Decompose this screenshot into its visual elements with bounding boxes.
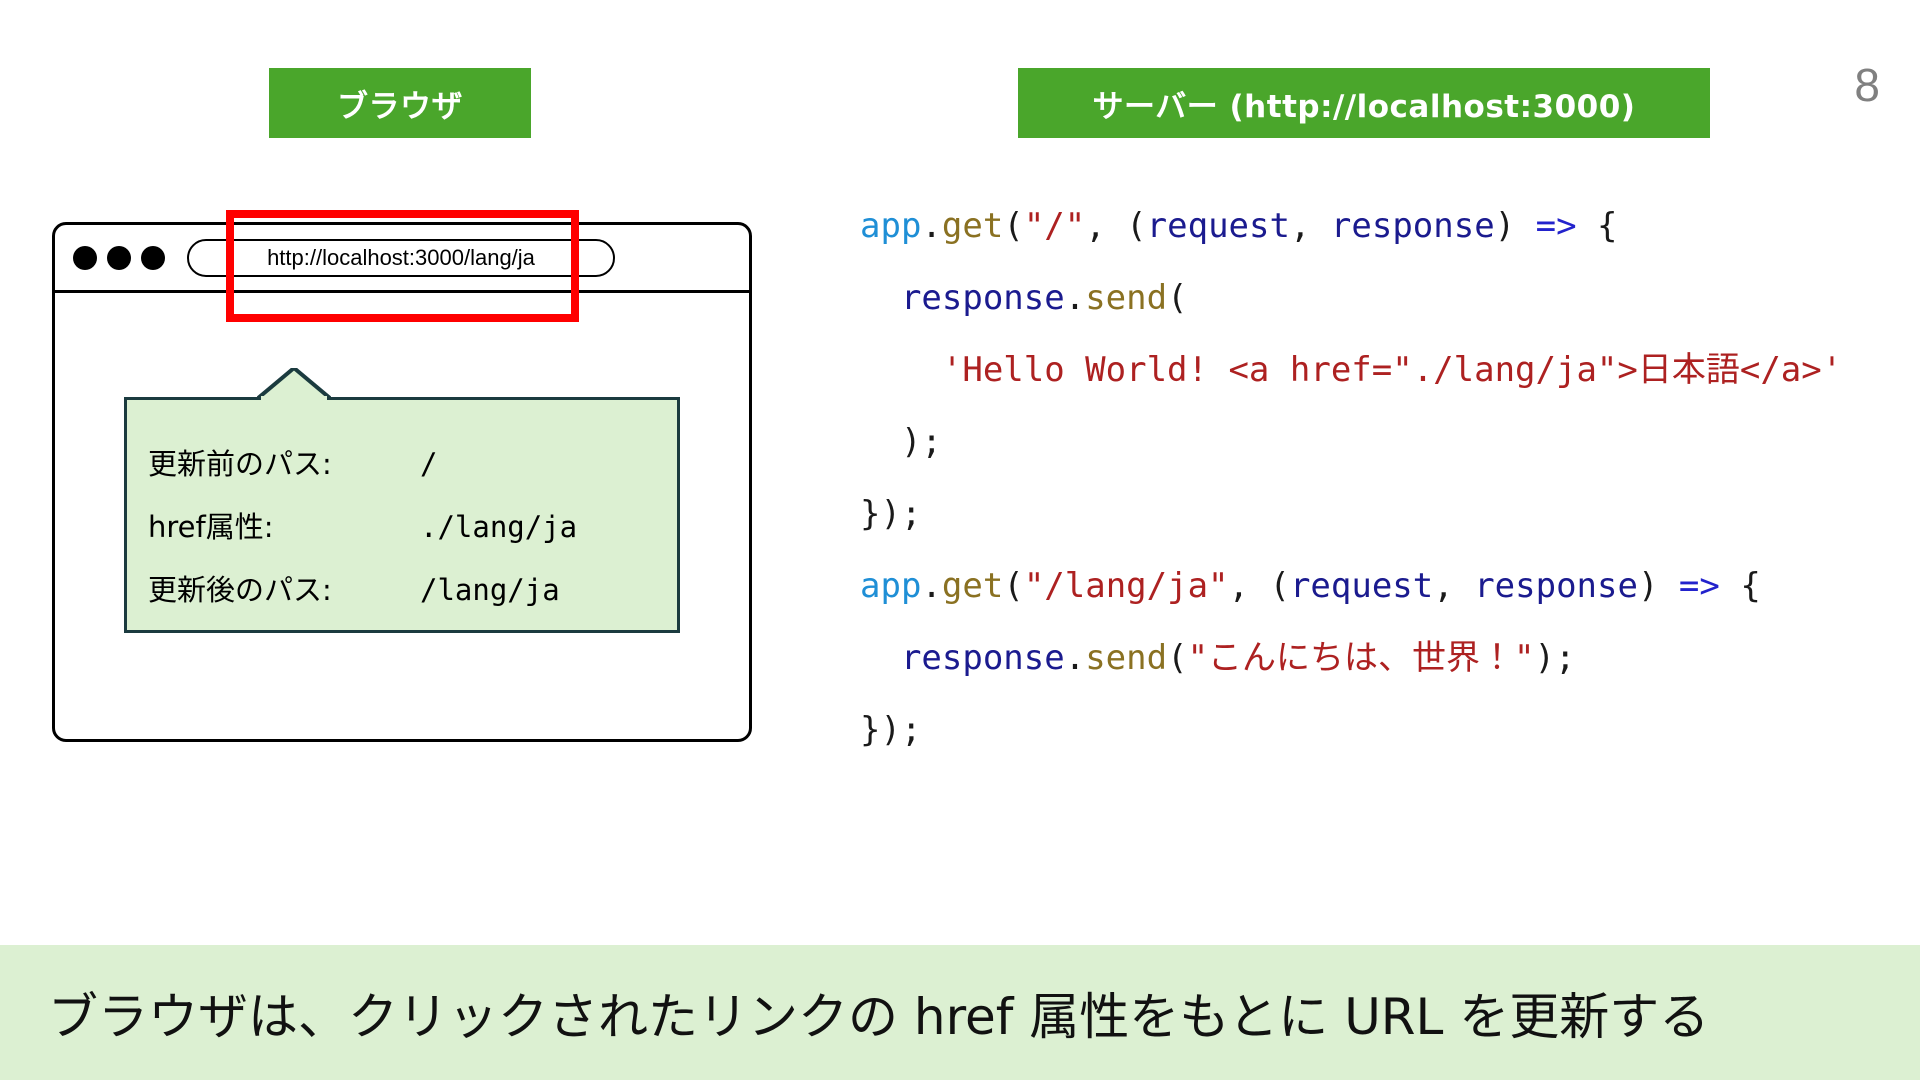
code-token-param: request [1290, 566, 1433, 606]
path-info-rows: 更新前のパス: / href属性: ./lang/ja 更新後のパス: /lan… [124, 397, 680, 633]
code-token-arrow: => [1536, 206, 1577, 246]
code-token-plain: . [921, 206, 941, 246]
path-info-callout: 更新前のパス: / href属性: ./lang/ja 更新後のパス: /lan… [124, 368, 680, 633]
page-number: 8 [1854, 62, 1880, 108]
code-token-plain: , [1290, 206, 1331, 246]
code-token-method: send [1085, 278, 1167, 318]
code-token-plain: , [1433, 566, 1474, 606]
code-token-plain: ) [1495, 206, 1536, 246]
path-info-label: href属性: [148, 504, 420, 546]
code-token-str: "こんにちは、世界！" [1188, 638, 1535, 678]
path-info-value: / [420, 447, 437, 481]
browser-section-header: ブラウザ [269, 68, 531, 138]
code-token-method: send [1085, 638, 1167, 678]
code-token-plain: , ( [1229, 566, 1290, 606]
code-token-plain: . [921, 566, 941, 606]
code-line: app.get("/", (request, response) => { [860, 190, 1900, 262]
code-line: app.get("/lang/ja", (request, response) … [860, 550, 1900, 622]
code-token-param: response [1474, 566, 1638, 606]
code-token-method: get [942, 566, 1003, 606]
path-info-row: 更新前のパス: / [148, 441, 680, 504]
code-token-plain: ( [1167, 638, 1187, 678]
callout-pointer-icon [257, 368, 331, 400]
code-token-plain [860, 278, 901, 318]
code-line: }); [860, 694, 1900, 766]
code-token-str: 'Hello World! <a href="./lang/ja">日本語</a… [942, 350, 1842, 390]
server-section-header-label: サーバー (http://localhost:3000) [1093, 81, 1636, 126]
path-info-row: href属性: ./lang/ja [148, 504, 680, 567]
code-token-obj: app [860, 566, 921, 606]
circle-icon[interactable] [141, 246, 165, 270]
code-line: }); [860, 478, 1900, 550]
path-info-label: 更新後のパス: [148, 567, 420, 609]
path-info-value: /lang/ja [420, 573, 560, 607]
code-token-str: "/" [1024, 206, 1085, 246]
code-token-str: "/lang/ja" [1024, 566, 1229, 606]
code-token-plain: ( [1003, 206, 1023, 246]
code-token-plain: . [1065, 638, 1085, 678]
code-token-plain [860, 350, 942, 390]
code-token-plain: ); [1535, 638, 1576, 678]
code-token-param: response [901, 278, 1065, 318]
code-token-plain: , ( [1085, 206, 1146, 246]
code-token-plain: }); [860, 494, 921, 534]
code-token-plain: ( [1003, 566, 1023, 606]
path-info-row: 更新後のパス: /lang/ja [148, 567, 680, 630]
code-token-plain: ) [1638, 566, 1679, 606]
server-section-header: サーバー (http://localhost:3000) [1018, 68, 1710, 138]
code-line: ); [860, 406, 1900, 478]
code-token-plain: ( [1167, 278, 1187, 318]
code-token-arrow: => [1679, 566, 1720, 606]
code-token-param: response [1331, 206, 1495, 246]
code-token-param: request [1147, 206, 1290, 246]
caption-band: ブラウザは、クリックされたリンクの href 属性をもとに URL を更新する [0, 945, 1920, 1080]
browser-section-header-label: ブラウザ [337, 81, 463, 126]
code-token-plain [860, 638, 901, 678]
address-bar[interactable]: http://localhost:3000/lang/ja [187, 239, 615, 277]
caption-text: ブラウザは、クリックされたリンクの href 属性をもとに URL を更新する [0, 977, 1709, 1049]
code-line: 'Hello World! <a href="./lang/ja">日本語</a… [860, 334, 1900, 406]
address-bar-value: http://localhost:3000/lang/ja [267, 245, 535, 271]
path-info-value: ./lang/ja [420, 510, 577, 544]
circle-icon[interactable] [107, 246, 131, 270]
code-line: response.send("こんにちは、世界！"); [860, 622, 1900, 694]
circle-icon[interactable] [73, 246, 97, 270]
code-token-plain: { [1720, 566, 1761, 606]
code-token-plain: ); [860, 422, 942, 462]
code-token-obj: app [860, 206, 921, 246]
code-token-method: get [942, 206, 1003, 246]
path-info-label: 更新前のパス: [148, 441, 420, 483]
code-line: response.send( [860, 262, 1900, 334]
code-token-plain: { [1577, 206, 1618, 246]
code-token-plain: }); [860, 710, 921, 750]
code-token-plain: . [1065, 278, 1085, 318]
code-token-param: response [901, 638, 1065, 678]
server-code-block: app.get("/", (request, response) => { re… [860, 190, 1900, 766]
browser-toolbar: http://localhost:3000/lang/ja [55, 225, 749, 293]
